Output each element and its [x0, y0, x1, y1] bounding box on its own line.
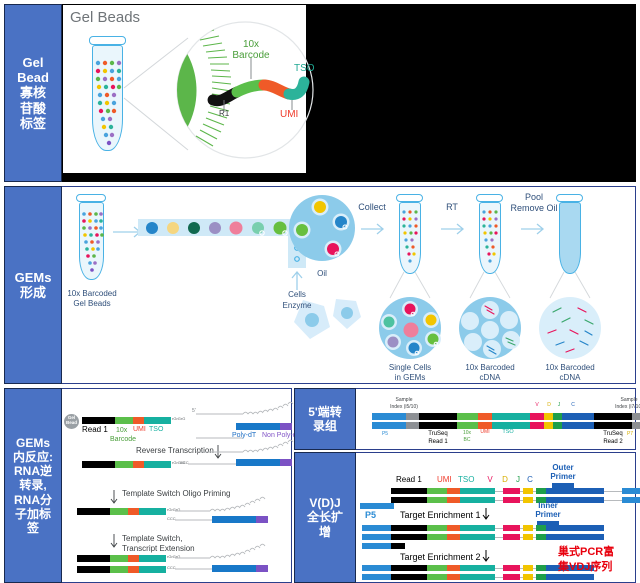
fp-label-c: C	[571, 403, 575, 408]
construct-d-bot-tso	[139, 566, 166, 573]
vdj-label-umi: UMI	[437, 476, 452, 484]
label-polydt: Poly-dT	[232, 432, 256, 439]
sidebar-gel-bead-line-1: Bead	[15, 70, 51, 85]
vdj3-bot-j	[536, 574, 546, 580]
fp-bot-p5	[372, 422, 406, 429]
gems-label-pool-2: Remove Oil	[510, 204, 557, 214]
fp-bot-10x-bc	[457, 422, 478, 429]
vdj3-top-bc	[427, 565, 447, 571]
vdj3-top-read1	[391, 565, 427, 571]
vdj1-bot-umi	[447, 497, 460, 503]
construct-d-bot-read1	[77, 566, 110, 573]
vdj-note-line-1: 巢式PCR富	[558, 547, 614, 559]
sidebar-in-gem-reaction: GEMs 内反应: RNA逆 转录, RNA分 子加标 签	[4, 388, 62, 583]
sidebar-ingem-line-0: GEMs	[11, 436, 55, 450]
vdj2-third-read1	[391, 543, 405, 549]
vdj1-bot-d	[523, 497, 533, 503]
vdj1-top-v	[503, 488, 520, 494]
fp-top-index-i5	[406, 413, 419, 420]
sidebar-five-prime: 5'端转 录组	[294, 388, 356, 450]
pool-tube-body	[559, 202, 581, 274]
construct-d-top-read1	[77, 555, 110, 562]
vdj3-bot-gap1	[495, 577, 503, 578]
vdj2-top-tso	[460, 525, 495, 531]
construct-c-barcode	[110, 508, 128, 515]
fp-label-tso: TSO	[502, 430, 513, 436]
construct-a-rgrgrg: rGrGrG	[172, 417, 185, 421]
fp-top-d	[544, 413, 553, 420]
vdj1-bot-read1	[391, 497, 427, 503]
gems-label-rt: RT	[446, 203, 458, 213]
vdj2-bot-p5	[362, 534, 391, 540]
polydt-seg-c	[212, 516, 256, 523]
vdj-label-outer-primer-2: Primer	[550, 473, 575, 482]
collect-tube-cap	[396, 194, 423, 202]
gems-label-cdna2-2: cDNA	[560, 374, 581, 383]
collect-tube-body	[399, 202, 421, 274]
construct-a-umi	[133, 417, 144, 424]
construct-a-barcode	[115, 417, 133, 424]
vdj2-top-read1	[391, 525, 427, 531]
fp-label-umi: UMI	[480, 430, 489, 435]
construct-d-top-umi	[128, 555, 139, 562]
gems-tube-body	[79, 202, 104, 280]
vdj2-top-j	[536, 525, 546, 531]
sidebar-gel-bead-line-0: Gel	[15, 55, 51, 70]
vdj1-top-read1	[391, 488, 427, 494]
sidebar-ingem-line-4: RNA分	[11, 493, 55, 507]
fp-label-v: V	[535, 403, 538, 408]
vdj2-bot-c	[546, 534, 604, 540]
fp-label-j: J	[558, 403, 561, 408]
fp-label-sample-index-right-2: Index (i7/10)	[615, 405, 640, 410]
vdj-label-p5: P5	[365, 511, 376, 520]
construct-b-ccc: CCC	[180, 461, 189, 465]
vdj3-bot-c	[546, 574, 594, 580]
fp-top-truseq-r1	[419, 413, 457, 420]
fp-label-sample-index-left-2: Index (i5/10)	[390, 405, 418, 410]
fp-bot-j	[553, 422, 562, 429]
vdj3-top-v	[503, 565, 520, 571]
vdj3-top-gap1	[495, 568, 503, 569]
gems-label-single-cells-1: Single Cells	[389, 364, 431, 373]
gems-label-cdna1-1: 10x Barcoded	[465, 364, 514, 373]
nonpolydt-seg-b	[280, 459, 292, 466]
fp-bot-d	[544, 422, 553, 429]
oligo-label-barcode: Barcode	[232, 51, 269, 62]
step-reverse-transcription: Reverse Transcription	[136, 447, 214, 455]
fp-label-sample-index-right-1: Sample	[621, 398, 638, 403]
vdj2-top-v	[503, 525, 520, 531]
fp-top-10x-bc	[457, 413, 478, 420]
fp-label-p5: P5	[382, 432, 388, 437]
oligo-label-umi: UMI	[280, 110, 298, 121]
pool-tube-cap	[556, 194, 583, 202]
vdj1-bot-v	[503, 497, 520, 503]
vdj2-bot-gap1	[495, 537, 503, 538]
gel-bead-badge-line-2: Bead	[66, 421, 77, 426]
vdj2-top-c	[546, 525, 604, 531]
sidebar-ingem-line-6: 签	[11, 521, 55, 535]
vdj2-bot-j	[536, 534, 546, 540]
sidebar-ingem-line-5: 子加标	[11, 507, 55, 521]
gems-label-pool-1: Pool	[525, 193, 543, 203]
construct-c-tso	[139, 508, 166, 515]
fp-top-umi	[478, 413, 492, 420]
oligo-label-r1: R1	[219, 110, 229, 118]
construct-d-top-barcode	[110, 555, 128, 562]
gems-label-collect: Collect	[358, 203, 386, 213]
label-umi-a: UMI	[133, 426, 146, 433]
vdj1-top-umi	[447, 488, 460, 494]
gems-label-gel-beads-1: 10x Barcoded	[67, 290, 116, 299]
fp-top-v	[530, 413, 544, 420]
construct-b-umi	[133, 461, 144, 468]
vdj3-bot-v	[503, 574, 520, 580]
label-barcode-a: Barcode	[110, 436, 136, 443]
fp-bot-umi	[478, 422, 492, 429]
fp-label-p7: P7	[627, 432, 633, 437]
label-10x-a: 10x	[116, 427, 127, 434]
fp-label-d: D	[547, 403, 551, 408]
construct-d-bot-umi	[128, 566, 139, 573]
gel-bead-tube-cap	[89, 36, 126, 45]
fp-label-10x-bc-1: 10x	[463, 431, 471, 436]
vdj2-bot-bc	[427, 534, 447, 540]
vdj1-top-d	[523, 488, 533, 494]
polydt-seg-b	[236, 459, 280, 466]
sidebar-ingem-line-3: 转录,	[11, 478, 55, 492]
vdj1-top-tail	[622, 488, 640, 494]
vdj-step-target-enrichment-2: Target Enrichment 2	[400, 553, 481, 562]
construct-c-ccc: CCC	[167, 517, 176, 521]
fp-top-tso	[492, 413, 530, 420]
vdj1-top-gap4	[604, 491, 622, 492]
sidebar-gems: GEMs 形成	[4, 186, 62, 384]
vdj1-top-gap1	[495, 491, 503, 492]
gems-label-cdna1-2: cDNA	[480, 374, 501, 383]
sidebar-gel-bead-line-4: 标签	[15, 116, 51, 131]
sidebar-vdj-line-0: V(D)J	[305, 496, 345, 510]
vdj3-bot-read1	[391, 574, 427, 580]
vdj2-bot-read1	[391, 534, 427, 540]
vdj3-bot-p5	[362, 574, 391, 580]
nonpolydt-seg-a	[280, 423, 292, 430]
sidebar-fiveprime-line-1: 录组	[306, 419, 344, 433]
construct-b-read1	[82, 461, 115, 468]
oligo-label-tso: TSO	[294, 64, 315, 75]
construct-d-bot-barcode	[110, 566, 128, 573]
fp-bot-truseq-r1	[419, 422, 457, 429]
fp-label-sample-index-left-1: Sample	[396, 398, 413, 403]
construct-c-umi	[128, 508, 139, 515]
fp-top-p5	[372, 413, 406, 420]
vdj-label-inner-primer-2: Primer	[535, 511, 560, 520]
fp-top-c	[562, 413, 594, 420]
vdj2-bot-tso	[460, 534, 495, 540]
construct-c-rgrgrg: rGrGrG	[167, 508, 180, 512]
vdj-label-tso: TSO	[458, 476, 474, 484]
sidebar-vdj: V(D)J 全长扩 增	[294, 452, 356, 583]
vdj3-bot-umi	[447, 574, 460, 580]
sidebar-gel-bead-line-3: 苷酸	[15, 101, 51, 116]
construct-a-read1	[82, 417, 115, 424]
vdj-label-j: J	[516, 476, 520, 485]
vdj-note-line-2: 集VDJ序列	[558, 562, 612, 574]
vdj2-top-bc	[427, 525, 447, 531]
vdj2-bot-v	[503, 534, 520, 540]
vdj1-top-c	[546, 488, 604, 494]
vdj1-top-bc	[427, 488, 447, 494]
fp-label-truseq-read1-1: TruSeq	[428, 431, 447, 437]
fp-bot-v	[530, 422, 544, 429]
vdj3-top-tso	[460, 565, 495, 571]
fp-label-truseq-read2-2: Read 2	[603, 439, 622, 445]
construct-d-ccc: CCC	[167, 566, 176, 570]
nonpolydt-seg-c	[256, 516, 268, 523]
workflow-figure: Gel Bead 寡核 苷酸 标签 Gel Beads	[0, 0, 640, 583]
sidebar-gel-bead-line-2: 寡核	[15, 85, 51, 100]
vdj2-top-gap1	[495, 528, 503, 529]
gems-tube-cap	[76, 194, 106, 202]
vdj2-third-p5	[362, 543, 391, 549]
gems-label-enzyme: Enzyme	[283, 302, 312, 311]
vdj3-top-j	[536, 565, 546, 571]
vdj1-top-j	[536, 488, 546, 494]
gems-label-cdna2-1: 10x Barcoded	[545, 364, 594, 373]
vdj1-bot-tail	[622, 497, 640, 503]
vdj-label-read1: Read 1	[396, 476, 422, 484]
rt-tube-cap	[476, 194, 503, 202]
vdj2-top-d	[523, 525, 533, 531]
sidebar-gems-line-0: GEMs	[13, 270, 54, 285]
vdj-label-c: C	[527, 476, 533, 485]
step-template-switch-line1: Template Switch,	[122, 535, 182, 543]
fp-top-truseq-r2	[594, 413, 632, 420]
rt-tube-body	[479, 202, 501, 274]
vdj1-bot-tso	[460, 497, 495, 503]
fp-label-truseq-read1-2: Read 1	[428, 439, 447, 445]
fp-bot-index-i5	[406, 422, 419, 429]
construct-d-rgrgrg: rGrGrG	[167, 555, 180, 559]
gel-beads-heading: Gel Beads	[70, 10, 140, 26]
construct-a-tso	[144, 417, 171, 424]
fp-label-10x-bc-2: BC	[464, 438, 471, 443]
vdj1-bot-gap1	[495, 500, 503, 501]
fp-label-truseq-read2-1: TruSeq	[603, 431, 622, 437]
construct-b-tso	[144, 461, 171, 468]
fp-bot-c	[562, 422, 594, 429]
sidebar-gel-bead: Gel Bead 寡核 苷酸 标签	[4, 4, 62, 182]
polydt-seg-a	[236, 423, 280, 430]
sidebar-vdj-line-1: 全长扩	[305, 510, 345, 524]
sidebar-fiveprime-line-0: 5'端转	[306, 405, 344, 419]
vdj3-bot-tso	[460, 574, 495, 580]
vdj-label-v: V	[487, 476, 492, 485]
vdj2-bot-d	[523, 534, 533, 540]
fp-top-index-i7	[632, 413, 640, 420]
label-read1-a: Read 1	[82, 426, 108, 434]
step-template-switch-oligo-priming: Template Switch Oligo Priming	[122, 490, 230, 498]
sidebar-ingem-line-1: 内反应:	[11, 450, 55, 464]
gel-bead-tube-body	[92, 45, 123, 151]
polydt-seg-d	[212, 565, 256, 572]
gems-label-single-cells-2: in GEMs	[395, 374, 426, 383]
vdj2-top-umi	[447, 525, 460, 531]
sidebar-ingem-line-2: RNA逆	[11, 464, 55, 478]
label-tso-a: TSO	[149, 426, 163, 433]
gems-label-oil: Oil	[317, 270, 327, 279]
fp-bot-tso	[492, 422, 530, 429]
vdj3-bot-bc	[427, 574, 447, 580]
vdj3-bot-d	[523, 574, 533, 580]
vdj1-bot-gap4	[604, 500, 622, 501]
vdj1-top-tso	[460, 488, 495, 494]
step-template-switch-line2: Transcript Extension	[122, 545, 195, 553]
construct-b-barcode	[115, 461, 133, 468]
vdj-step-target-enrichment-1: Target Enrichment 1	[400, 511, 481, 520]
fp-bot-truseq-r2	[594, 422, 632, 429]
vdj-p5-bar	[360, 503, 394, 509]
vdj1-bot-bc	[427, 497, 447, 503]
vdj2-bot-umi	[447, 534, 460, 540]
vdj2-top-p5	[362, 525, 391, 531]
vdj3-top-d	[523, 565, 533, 571]
gems-label-gel-beads-2: Gel Beads	[73, 300, 110, 309]
construct-c-read1	[77, 508, 110, 515]
sidebar-gems-line-1: 形成	[13, 285, 54, 300]
nonpolydt-seg-d	[256, 565, 268, 572]
gems-label-cells: Cells	[288, 291, 306, 300]
vdj-label-d: D	[502, 476, 508, 485]
fp-bot-index-i7	[632, 422, 640, 429]
vdj3-top-umi	[447, 565, 460, 571]
vdj3-top-p5	[362, 565, 391, 571]
sidebar-vdj-line-2: 增	[305, 525, 345, 539]
label-five-prime: 5'	[192, 409, 196, 414]
construct-d-top-tso	[139, 555, 166, 562]
fp-top-j	[553, 413, 562, 420]
